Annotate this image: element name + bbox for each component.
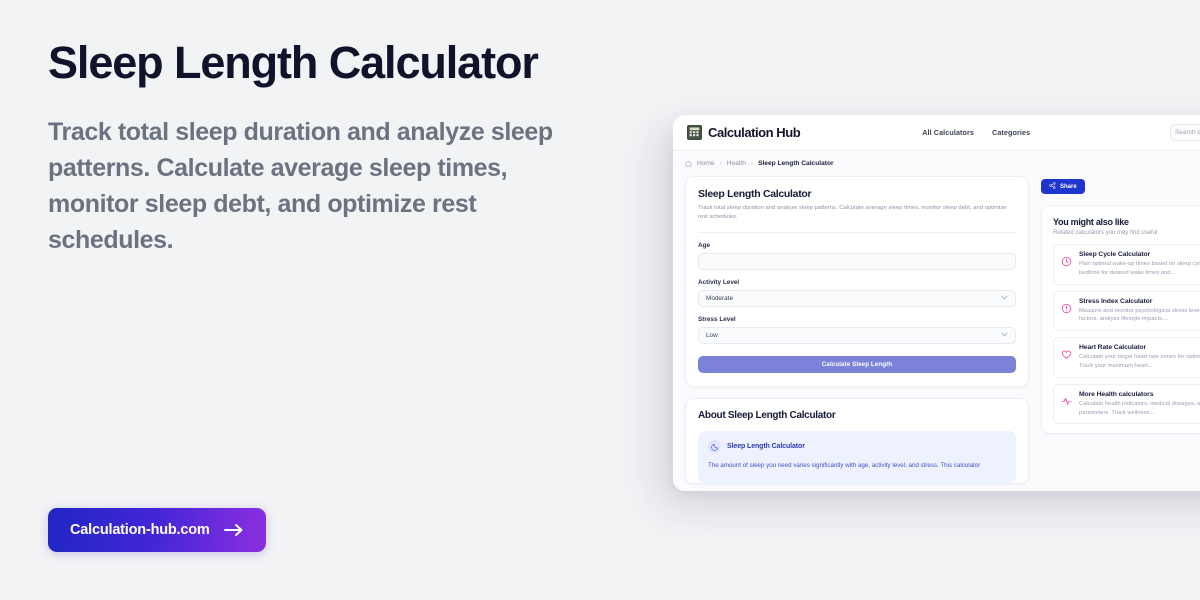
related-desc: Measure and monitor psychological stress… — [1079, 307, 1200, 325]
related-desc: Calculate health indicators, medical dos… — [1079, 400, 1200, 418]
browser-mockup: Calculation Hub All Calculators Categori… — [673, 115, 1200, 491]
chevron-down-icon — [1001, 332, 1008, 339]
breadcrumb-item-health[interactable]: Health — [727, 160, 746, 167]
calculate-button[interactable]: Calculate Sleep Length — [698, 356, 1016, 373]
clock-icon — [1061, 254, 1072, 265]
share-label: Share — [1060, 184, 1077, 190]
field-stress-level: Stress Level Low — [698, 316, 1016, 344]
related-name: Stress Index Calculator — [1079, 298, 1200, 305]
stress-level-value: Low — [706, 332, 718, 339]
about-callout-text: The amount of sleep you need varies sign… — [708, 461, 1006, 471]
calculator-title: Sleep Length Calculator — [698, 188, 1016, 200]
related-name: Heart Rate Calculator — [1079, 344, 1200, 351]
chevron-down-icon — [1001, 295, 1008, 302]
breadcrumb: Home › Health › Sleep Length Calculator — [673, 151, 1200, 176]
sidebar-column: Share You might also like Related calcul… — [1041, 176, 1200, 484]
related-name: More Health calculators — [1079, 391, 1200, 398]
search-placeholder: Search calculators... — [1175, 129, 1200, 136]
field-label-stress-level: Stress Level — [698, 316, 1016, 323]
search-input[interactable]: Search calculators... ⌘ K — [1170, 124, 1200, 141]
main-column: Sleep Length Calculator Track total slee… — [685, 176, 1029, 484]
stress-level-select[interactable]: Low — [698, 327, 1016, 344]
arrow-right-icon — [224, 523, 244, 537]
promo-text-block: Sleep Length Calculator Track total slee… — [48, 38, 628, 258]
about-title: About Sleep Length Calculator — [698, 410, 1016, 421]
share-icon — [1049, 182, 1056, 191]
about-card: About Sleep Length Calculator Sleep Leng… — [685, 398, 1029, 484]
about-callout: Sleep Length Calculator The amount of sl… — [698, 431, 1016, 483]
field-age: Age — [698, 242, 1016, 270]
page-title: Sleep Length Calculator — [48, 38, 628, 88]
field-label-activity-level: Activity Level — [698, 279, 1016, 286]
home-icon — [685, 160, 692, 167]
field-label-age: Age — [698, 242, 1016, 249]
breadcrumb-separator: › — [751, 160, 753, 167]
related-desc: Calculate your target heart rate zones f… — [1079, 353, 1200, 371]
activity-level-value: Moderate — [706, 295, 733, 302]
promo-banner: Sleep Length Calculator Track total slee… — [0, 0, 1200, 600]
brand-logo[interactable]: Calculation Hub — [687, 125, 800, 140]
breadcrumb-item-home[interactable]: Home — [697, 160, 715, 167]
calculator-icon — [687, 125, 702, 140]
alert-circle-icon — [1061, 301, 1072, 312]
brand-name: Calculation Hub — [708, 125, 800, 140]
field-activity-level: Activity Level Moderate — [698, 279, 1016, 307]
calculator-card: Sleep Length Calculator Track total slee… — [685, 176, 1029, 387]
page-body: Sleep Length Calculator Track total slee… — [673, 176, 1200, 484]
moon-icon — [708, 440, 721, 453]
cta-label: Calculation-hub.com — [70, 522, 210, 538]
list-item[interactable]: Stress Index Calculator Measure and moni… — [1053, 291, 1200, 332]
related-desc: Plan optimal wake-up times based on slee… — [1079, 260, 1200, 278]
site-header: Calculation Hub All Calculators Categori… — [673, 115, 1200, 151]
list-item[interactable]: Sleep Cycle Calculator Plan optimal wake… — [1053, 244, 1200, 285]
calculator-description: Track total sleep duration and analyze s… — [698, 204, 1016, 222]
main-nav: All Calculators Categories — [922, 128, 1030, 137]
list-item[interactable]: Heart Rate Calculator Calculate your tar… — [1053, 337, 1200, 378]
heart-icon — [1061, 347, 1072, 358]
related-list: Sleep Cycle Calculator Plan optimal wake… — [1053, 244, 1200, 424]
breadcrumb-item-current: Sleep Length Calculator — [758, 160, 833, 167]
about-callout-title: Sleep Length Calculator — [727, 443, 805, 450]
related-name: Sleep Cycle Calculator — [1079, 251, 1200, 258]
related-subtitle: Related calculators you may find useful — [1053, 230, 1200, 236]
age-input[interactable] — [698, 253, 1016, 270]
activity-icon — [1061, 394, 1072, 405]
share-button[interactable]: Share — [1041, 179, 1085, 194]
breadcrumb-separator: › — [720, 160, 722, 167]
related-title: You might also like — [1053, 217, 1200, 227]
divider — [698, 232, 1016, 233]
promo-subtitle: Track total sleep duration and analyze s… — [48, 114, 593, 258]
list-item[interactable]: More Health calculators Calculate health… — [1053, 384, 1200, 425]
nav-item-categories[interactable]: Categories — [992, 128, 1030, 137]
activity-level-select[interactable]: Moderate — [698, 290, 1016, 307]
related-calculators-card: You might also like Related calculators … — [1041, 205, 1200, 434]
nav-item-all-calculators[interactable]: All Calculators — [922, 128, 974, 137]
cta-button[interactable]: Calculation-hub.com — [48, 508, 266, 552]
